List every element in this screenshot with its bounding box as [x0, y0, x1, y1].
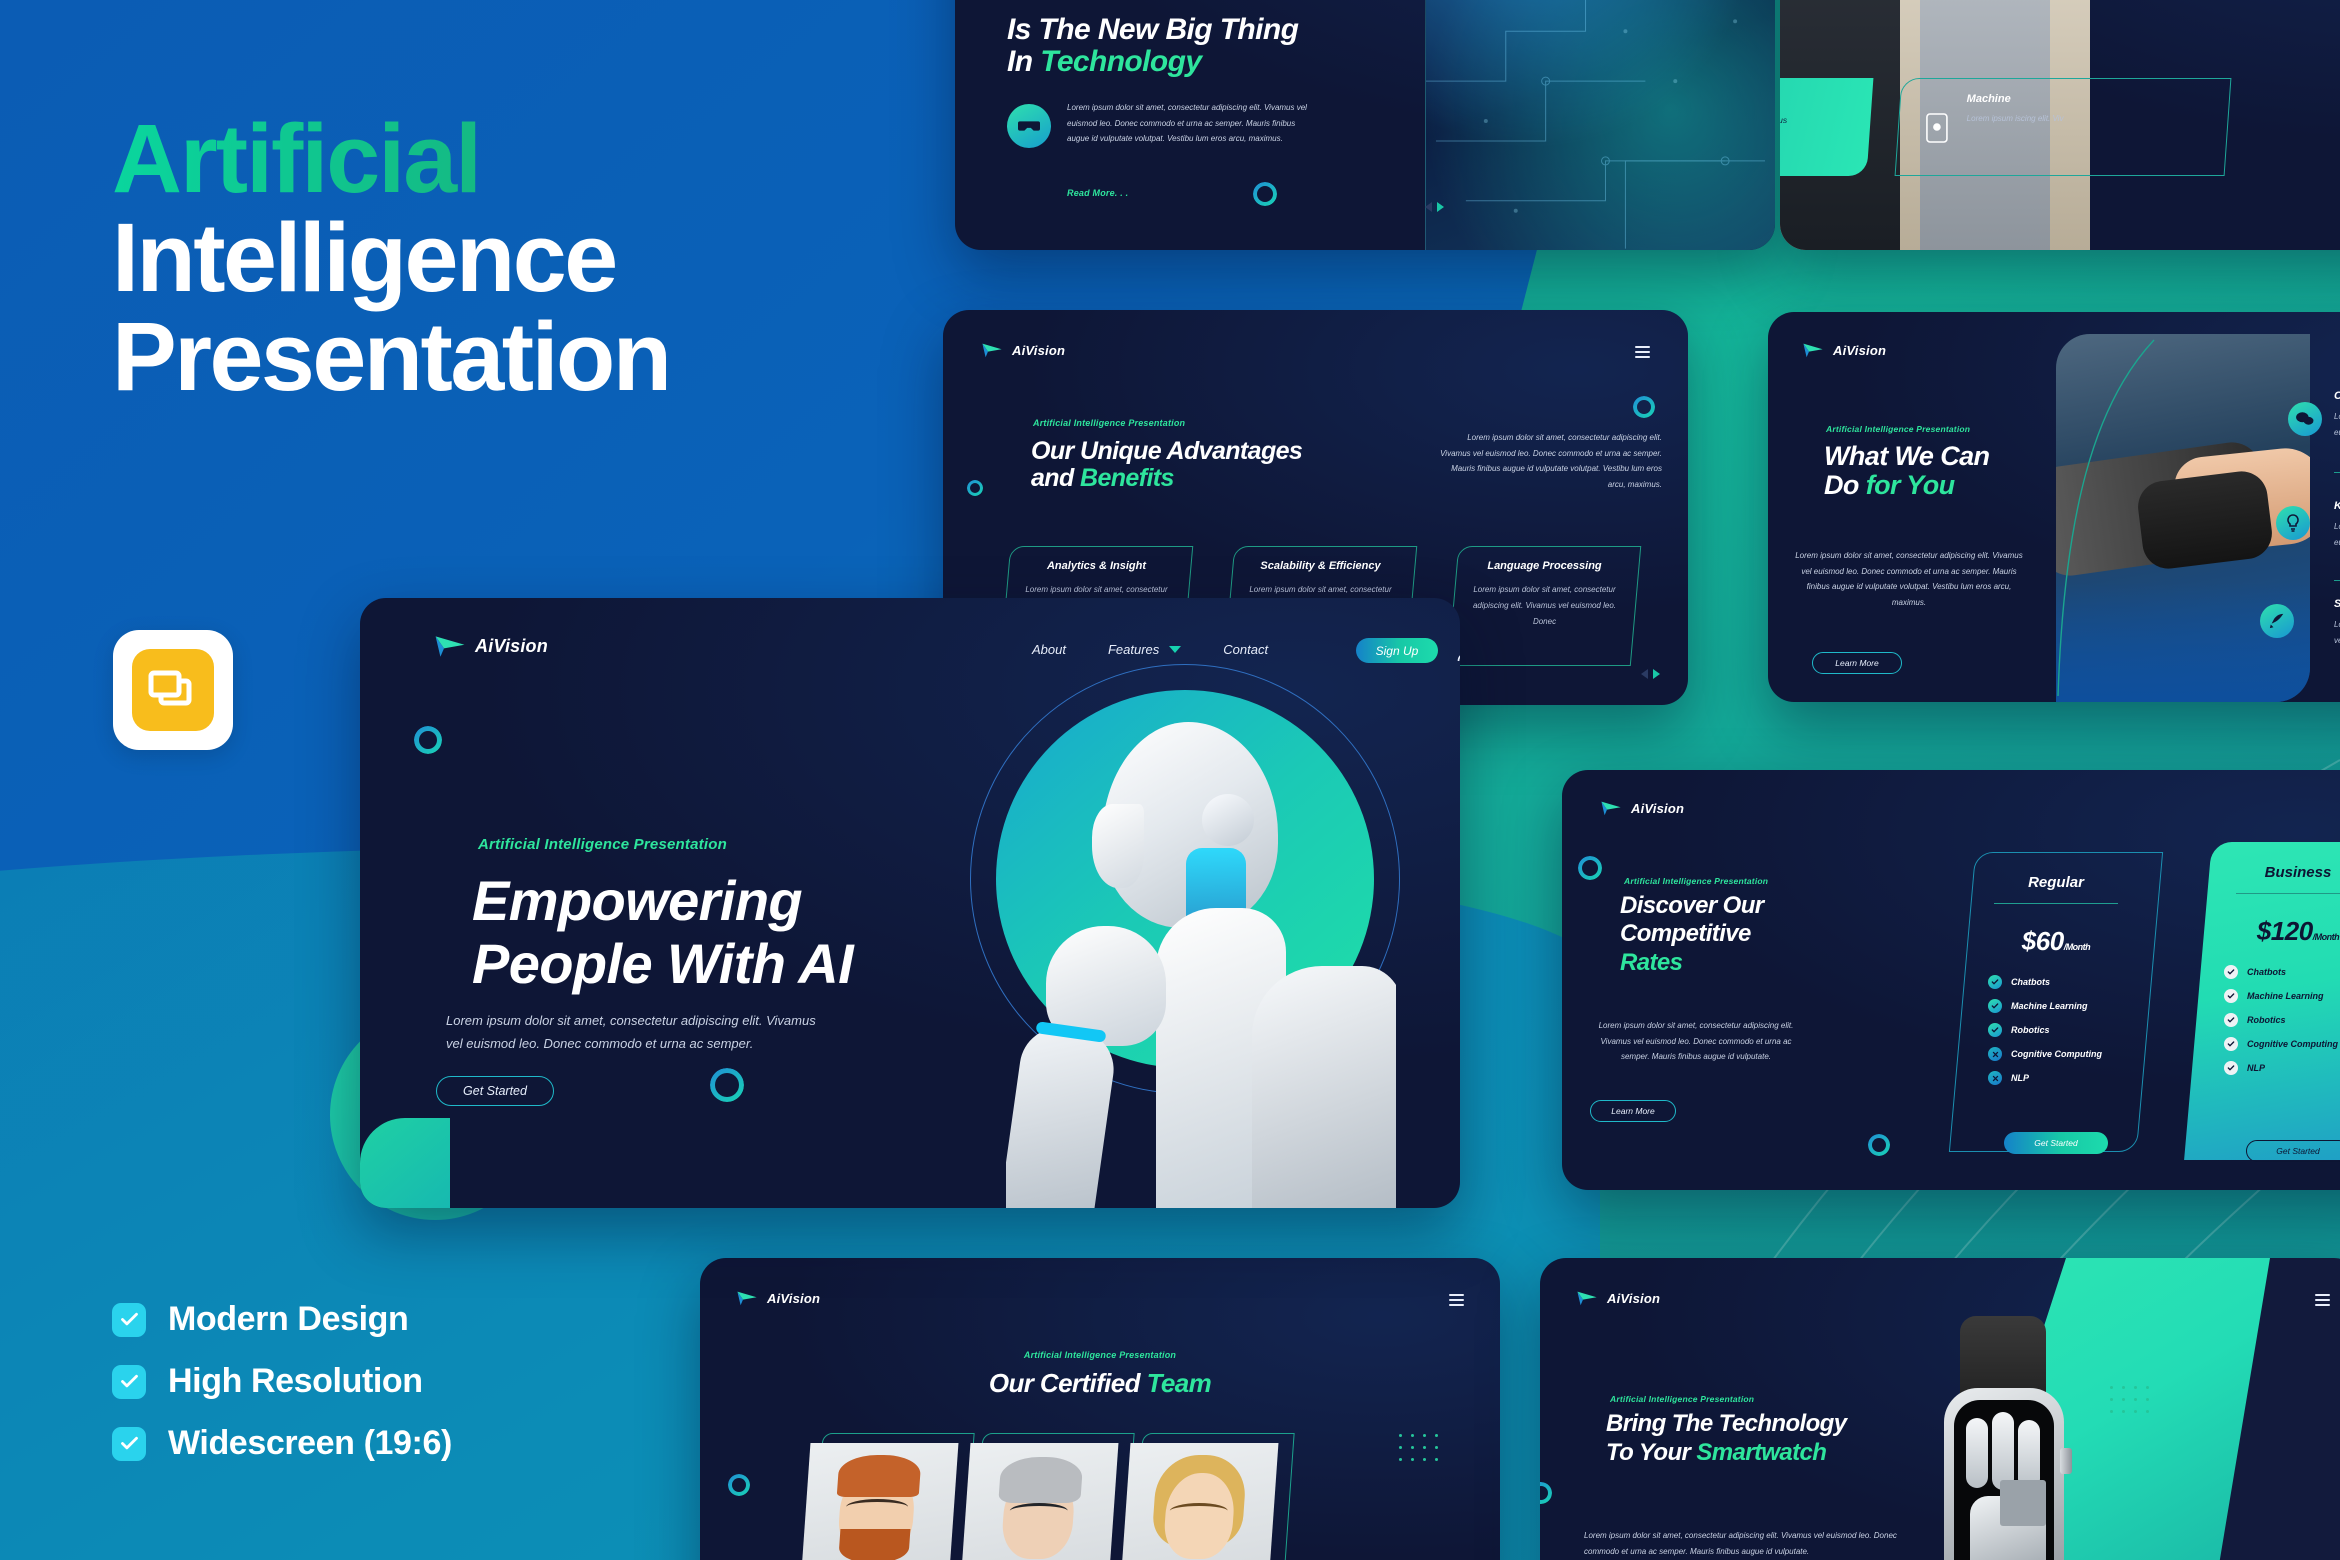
cloud-card-title: Cloud Computing	[1780, 92, 1871, 106]
plan-feature-label: Robotics	[2247, 1015, 2286, 1025]
plan-feature-list: Chatbots Machine Learning Robotics	[1988, 975, 2150, 1085]
plan-price-period: /Month	[2313, 932, 2340, 942]
paper-plane-icon	[1802, 342, 1824, 358]
pricing-title-line2: Competitive	[1620, 920, 1751, 947]
promo-headline: Artificial Intelligence Presentation	[112, 110, 812, 407]
headline-line-3: Presentation	[112, 308, 812, 407]
chat-bubble-icon	[2288, 402, 2322, 436]
capability-title: Knowledge	[2334, 500, 2340, 512]
capability-item: Support Lorem ipsum dolor sit amet, cons…	[2334, 598, 2340, 648]
capability-item: Knowledge Lorem ipsum dolor sit amet, co…	[2334, 500, 2340, 550]
cross-icon	[1988, 1047, 2002, 1061]
feature-item: High Resolution	[112, 1362, 452, 1401]
team-member-photo	[958, 1443, 1119, 1560]
learn-more-button[interactable]: Learn More	[1812, 652, 1902, 674]
slide-capabilities[interactable]: AiVision Artificial Intelligence Present…	[1768, 312, 2340, 702]
smartwatch-image	[1930, 1316, 2080, 1560]
check-icon	[1988, 1023, 2002, 1037]
slides-icon-inner	[132, 649, 214, 731]
team-member-photo	[1118, 1443, 1279, 1560]
check-icon	[112, 1303, 146, 1337]
technology-title-line2-highlight: Technology	[1040, 45, 1201, 78]
slide-team[interactable]: AiVision Artificial Intelligence Present…	[700, 1258, 1500, 1560]
pricing-title-line1: Discover Our	[1620, 892, 1764, 919]
pricing-plan-regular[interactable]: Regular $60/Month Chatbots Machine Learn…	[1962, 852, 2150, 1152]
plan-feature-label: Chatbots	[2247, 967, 2286, 977]
nav-item-features[interactable]: Features	[1108, 642, 1181, 657]
team-title-highlight: Team	[1147, 1368, 1212, 1398]
dot-pattern	[2110, 1386, 2149, 1413]
advantages-title: Our Unique Advantages and Benefits	[1031, 438, 1431, 491]
plan-feature-label: Machine Learning	[2247, 991, 2324, 1001]
plan-price-amount: $120	[2257, 916, 2313, 946]
check-icon	[112, 1427, 146, 1461]
smartwatch-title-line2-plain: To Your	[1606, 1439, 1696, 1466]
chat-glyph	[2296, 411, 2314, 427]
decor-swoosh	[2054, 334, 2164, 702]
team-title-plain: Our Certified	[989, 1368, 1147, 1398]
divider	[2334, 472, 2340, 473]
chevron-down-icon	[1169, 646, 1181, 653]
cloud-card-body: Lorem ipsum dolor sit amet, consectetur …	[1780, 112, 1793, 146]
robot-image	[1006, 708, 1396, 1208]
nav-features-label: Features	[1108, 642, 1159, 657]
hamburger-icon[interactable]	[2315, 1294, 2330, 1306]
watch-screen	[1954, 1400, 2054, 1560]
capabilities-title: What We Can Do for You	[1824, 442, 1989, 499]
advantage-card-title: Analytics & Insight	[1005, 560, 1188, 572]
plan-name: Business	[2198, 864, 2340, 881]
plan-feature-label: Robotics	[2011, 1025, 2050, 1035]
cloud-computing-card[interactable]: Cloud Computing Lorem ipsum dolor sit am…	[1780, 78, 1873, 176]
plan-feature-label: NLP	[2011, 1073, 2029, 1083]
prev-arrow-icon[interactable]	[1425, 202, 1432, 212]
check-icon	[2224, 1061, 2238, 1075]
decor-ring-small	[967, 480, 983, 496]
check-icon	[2224, 1013, 2238, 1027]
headline-line-2: Intelligence	[112, 209, 812, 308]
plan-feature: Cognitive Computing	[1988, 1047, 2150, 1061]
dot-pattern	[1399, 1434, 1438, 1461]
feature-item: Modern Design	[112, 1300, 452, 1339]
technology-title-line1: Is The New Big Thing	[1007, 13, 1298, 46]
capabilities-title-line1: What We Can	[1824, 441, 1989, 471]
plan-feature: NLP	[1988, 1071, 2150, 1085]
slide-arrows[interactable]	[1425, 202, 1444, 212]
robot-forearm	[1006, 1022, 1119, 1208]
advantage-card[interactable]: Language Processing Lorem ipsum dolor si…	[1453, 546, 1636, 666]
check-icon	[1988, 999, 2002, 1013]
plan-cta-button[interactable]: Get Started	[2246, 1140, 2340, 1162]
smartwatch-title: Bring The Technology To Your Smartwatch	[1606, 1410, 1846, 1468]
advantage-card-title: Scalability & Efficiency	[1229, 560, 1412, 572]
rocket-icon	[2260, 604, 2294, 638]
rocket-glyph	[2269, 613, 2285, 629]
feature-label: High Resolution	[168, 1362, 423, 1401]
capabilities-title-line2-highlight: for You	[1866, 470, 1955, 500]
plan-feature: Robotics	[2224, 1013, 2340, 1027]
plan-price-period: /Month	[2064, 942, 2091, 952]
vr-headset-icon	[1007, 104, 1051, 148]
next-arrow-icon[interactable]	[1437, 202, 1444, 212]
plan-price-amount: $60	[2022, 926, 2064, 956]
advantages-eyebrow: Artificial Intelligence Presentation	[1033, 418, 1185, 428]
technology-body: Lorem ipsum dolor sit amet, consectetur …	[1067, 100, 1307, 147]
plan-divider	[1994, 903, 2118, 904]
slide-technology[interactable]: Is The New Big Thing In Technology Lorem…	[955, 0, 1775, 250]
capability-body: Lorem ipsum dolor sit amet, consectetur …	[2334, 617, 2340, 648]
advantage-card-body: Lorem ipsum dolor sit amet, consectetur …	[1453, 582, 1636, 630]
watch-crown	[2060, 1448, 2072, 1474]
ml-card-title: Machine	[1967, 93, 2229, 105]
brand-name: AiVision	[1607, 1291, 1660, 1306]
capabilities-title-line2-plain: Do	[1824, 470, 1866, 500]
brand-name: AiVision	[767, 1291, 820, 1306]
plan-feature-label: Chatbots	[2011, 977, 2050, 987]
capabilities-eyebrow: Artificial Intelligence Presentation	[1826, 424, 1970, 434]
lightbulb-icon	[2276, 506, 2310, 540]
slide-pricing[interactable]: AiVision Artificial Intelligence Present…	[1562, 770, 2340, 1190]
smartwatch-title-line2-highlight: Smartwatch	[1696, 1439, 1826, 1466]
advantages-title-line2-highlight: Benefits	[1080, 464, 1174, 492]
plan-feature: Chatbots	[1988, 975, 2150, 989]
decor-ring	[1540, 1482, 1552, 1504]
pricing-title-line3-highlight: Rates	[1620, 949, 1682, 976]
vr-glyph	[1018, 118, 1040, 134]
plan-feature-label: Machine Learning	[2011, 1001, 2088, 1011]
team-eyebrow: Artificial Intelligence Presentation	[700, 1350, 1500, 1360]
team-title: Our Certified Team	[700, 1370, 1500, 1398]
plan-feature-label: NLP	[2247, 1063, 2265, 1073]
smartwatch-body: Lorem ipsum dolor sit amet, consectetur …	[1584, 1528, 1904, 1560]
decor-ring	[1578, 856, 1602, 880]
check-icon	[2224, 989, 2238, 1003]
team-member-photo	[798, 1443, 959, 1560]
slide-chat[interactable]: Chat C Lorem ipsum dolor sit a euismod l…	[1780, 0, 2340, 250]
plan-feature: NLP	[2224, 1061, 2340, 1075]
brand-logo[interactable]: AiVision	[1576, 1290, 1660, 1306]
capability-title: Support	[2334, 598, 2340, 610]
cross-icon	[1988, 1071, 2002, 1085]
user-icon[interactable]	[1456, 640, 1460, 662]
ml-card-body: Lorem ipsum iscing elit. Viv	[1967, 111, 2229, 127]
google-slides-icon	[113, 630, 233, 750]
next-arrow-icon[interactable]	[1653, 669, 1660, 679]
technology-title: Is The New Big Thing In Technology	[1007, 14, 1437, 78]
nav-item-about[interactable]: About	[1032, 642, 1066, 657]
circuit-pattern	[1426, 0, 1775, 249]
plan-feature: Chatbots	[2224, 965, 2340, 979]
technology-photo	[1425, 0, 1775, 250]
advantage-card-title: Language Processing	[1453, 560, 1636, 572]
machine-learning-card[interactable]: Machine Lorem ipsum iscing elit. Viv	[1895, 78, 2232, 176]
slides-glyph	[147, 669, 199, 711]
hero-nav: About Features Contact	[1032, 642, 1268, 657]
feature-list: Modern Design High Resolution Widescreen…	[112, 1300, 452, 1486]
learn-more-button[interactable]: Learn More	[1590, 1100, 1676, 1122]
sign-up-button[interactable]: Sign Up	[1356, 638, 1438, 663]
decor-ring	[1868, 1134, 1890, 1156]
divider	[2334, 580, 2340, 581]
pricing-body: Lorem ipsum dolor sit amet, consectetur …	[1588, 1018, 1804, 1065]
decor-ring	[1253, 182, 1277, 206]
brand-logo[interactable]: AiVision	[1600, 800, 1684, 816]
capabilities-body: Lorem ipsum dolor sit amet, consectetur …	[1794, 548, 2024, 610]
capability-body: Lorem ipsum dolor sit amet, consectetur …	[2334, 519, 2340, 550]
check-icon	[2224, 1037, 2238, 1051]
robot-face	[1092, 804, 1144, 888]
plan-feature-list: Chatbots Machine Learning Robotics	[2224, 965, 2340, 1075]
slide-arrows[interactable]	[1641, 669, 1660, 679]
technology-title-line2-plain: In	[1007, 45, 1040, 78]
paper-plane-icon	[1576, 1290, 1598, 1306]
hamburger-icon[interactable]	[1449, 1294, 1464, 1306]
decor-ring	[710, 1068, 744, 1102]
nav-item-contact[interactable]: Contact	[1223, 642, 1268, 657]
read-more-link[interactable]: Read More. . .	[1067, 188, 1128, 198]
capability-body: Lorem ipsum dolor sit amet, consectetur …	[2334, 409, 2340, 440]
plan-feature: Machine Learning	[2224, 989, 2340, 1003]
prev-arrow-icon[interactable]	[1641, 669, 1648, 679]
pricing-plan-business[interactable]: Business $120/Month Chatbots Machine Lea…	[2198, 842, 2340, 1160]
paper-plane-icon	[736, 1290, 758, 1306]
pricing-eyebrow: Artificial Intelligence Presentation	[1624, 876, 1768, 886]
plan-feature-label: Cognitive Computing	[2247, 1039, 2338, 1049]
decor-ring	[728, 1474, 750, 1496]
feature-label: Modern Design	[168, 1300, 408, 1339]
smartwatch-title-line1: Bring The Technology	[1606, 1410, 1846, 1437]
bulb-glyph	[2285, 514, 2301, 532]
feature-label: Widescreen (19:6)	[168, 1424, 452, 1463]
brand-name: AiVision	[1833, 343, 1886, 358]
headline-line-1: Artificial	[112, 110, 812, 209]
promo-panel: Artificial Intelligence Presentation Mod…	[0, 0, 640, 1560]
advantages-title-line1: Our Unique Advantages	[1031, 437, 1302, 465]
capability-item: Conversational Lorem ipsum dolor sit ame…	[2334, 390, 2340, 440]
brand-logo[interactable]: AiVision	[981, 342, 1065, 358]
brand-name: AiVision	[1631, 801, 1684, 816]
plan-feature: Robotics	[1988, 1023, 2150, 1037]
brand-logo[interactable]: AiVision	[736, 1290, 820, 1306]
plan-feature: Cognitive Computing	[2224, 1037, 2340, 1051]
paper-plane-icon	[1600, 800, 1622, 816]
advantages-body: Lorem ipsum dolor sit amet, consectetur …	[1440, 430, 1662, 492]
robot-ear	[1202, 794, 1254, 846]
check-icon	[112, 1365, 146, 1399]
tablet-touch-icon	[1925, 113, 1949, 143]
brand-logo[interactable]: AiVision	[1802, 342, 1886, 358]
hamburger-icon[interactable]	[1635, 346, 1650, 358]
plan-name: Regular	[1962, 874, 2150, 891]
slide-smartwatch[interactable]: AiVision Artificial Intelligence Present…	[1540, 1258, 2340, 1560]
plan-cta-button[interactable]: Get Started	[2004, 1132, 2108, 1154]
pricing-title: Discover Our Competitive Rates	[1620, 892, 1764, 977]
paper-plane-icon	[981, 342, 1003, 358]
plan-price: $120/Month	[2198, 916, 2340, 947]
plan-feature-label: Cognitive Computing	[2011, 1049, 2102, 1059]
feature-item: Widescreen (19:6)	[112, 1424, 452, 1463]
plan-feature: Machine Learning	[1988, 999, 2150, 1013]
advantages-title-line2-plain: and	[1031, 464, 1080, 492]
smartwatch-eyebrow: Artificial Intelligence Presentation	[1610, 1394, 1754, 1404]
capability-title: Conversational	[2334, 390, 2340, 402]
plan-divider	[2236, 893, 2340, 894]
check-icon	[1988, 975, 2002, 989]
plan-price: $60/Month	[1962, 926, 2150, 957]
decor-ring	[1633, 396, 1655, 418]
brand-name: AiVision	[1012, 343, 1065, 358]
check-icon	[2224, 965, 2238, 979]
robot-shoulder	[1252, 966, 1396, 1208]
